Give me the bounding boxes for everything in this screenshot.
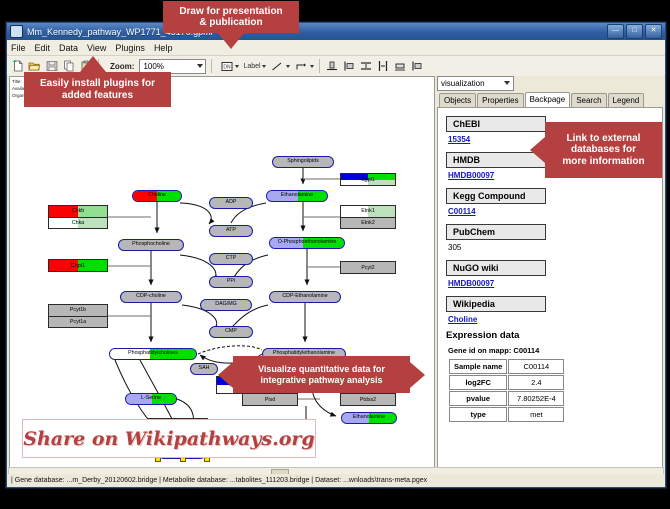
gene-node-row: Sgpl1 [341, 174, 395, 185]
pathway-metabolite-node[interactable]: CDP-Ethanolamine [269, 291, 341, 303]
gene-node-label: Etnk2 [361, 220, 375, 226]
menu-item-help[interactable]: Help [154, 43, 173, 53]
pathway-metabolite-node[interactable]: Ethanolamine [341, 412, 397, 424]
chevron-down-icon [197, 64, 203, 68]
gene-node-row: Ptdss2 [341, 394, 395, 405]
app-icon [10, 25, 23, 38]
pathway-gene-node[interactable]: Pcyt1bPcyt1a [48, 304, 108, 328]
label-tool[interactable]: Label [243, 63, 265, 70]
node-label: ATP [226, 228, 236, 233]
node-label: CMP [225, 329, 237, 334]
visualization-select[interactable]: visualization [437, 76, 514, 91]
node-label: O-Phosphoethanolamine [278, 240, 337, 245]
chevron-down-icon[interactable] [262, 65, 266, 68]
pathway-metabolite-node[interactable]: Sphingolipids [272, 156, 334, 168]
node-label: Phosphatidylcholines [128, 351, 178, 356]
visualization-row: visualization [437, 76, 663, 91]
node-label: L-Serine [141, 396, 161, 401]
line-icon[interactable] [270, 59, 285, 74]
status-bar-text: | Gene database: ...m_Derby_20120602.bri… [11, 477, 427, 484]
gene-node-row: Etnk2 [341, 217, 395, 229]
menu-item-file[interactable]: File [11, 43, 26, 53]
gene-node-row: Pisd [243, 394, 297, 405]
database-name: Wikipedia [446, 296, 546, 312]
gene-node-row: Etnk1 [341, 206, 395, 217]
pathway-gene-node[interactable]: Pcyt2 [340, 261, 396, 274]
node-label: SAH [199, 366, 210, 371]
table-cell-key: pvalue [449, 391, 507, 406]
toolbar-separator [319, 59, 320, 73]
pathway-metabolite-node[interactable]: L-Serine [125, 393, 177, 405]
node-label: ADP [226, 200, 237, 205]
callout-text: Link to external databases for more info… [562, 133, 644, 168]
callout-draw-for-publication: Draw for presentation & publication [163, 1, 299, 33]
database-block-nugo: NuGO wiki HMDB00097 [446, 258, 662, 288]
screenshot-root: Mm_Kennedy_pathway_WP1771_45176.gpml — □… [0, 0, 670, 509]
database-link[interactable]: HMDB00097 [448, 279, 662, 288]
gene-node-row: Chkb [49, 206, 107, 217]
size-equal-icon[interactable] [393, 59, 408, 74]
pathway-metabolite-node[interactable]: ADP [209, 197, 253, 209]
expression-data-table: Sample name C00114 log2FC 2.4 pvalue 7.8… [448, 358, 565, 423]
pathway-metabolite-node[interactable]: DAG/MG [200, 299, 252, 311]
pathway-gene-node[interactable]: Ptdss2 [340, 393, 396, 406]
table-row: log2FC 2.4 [449, 375, 564, 390]
gene-node-label: Chpt1 [71, 263, 85, 269]
database-name: Kegg Compound [446, 188, 546, 204]
close-button[interactable]: ✕ [645, 24, 662, 39]
datanode-icon[interactable]: DN [219, 59, 234, 74]
node-label: Sphingolipids [287, 159, 319, 164]
table-row: Sample name C00114 [449, 359, 564, 374]
table-cell-key: log2FC [449, 375, 507, 390]
table-cell-key: Sample name [449, 359, 507, 374]
line-tool[interactable] [270, 59, 290, 74]
pathway-gene-node[interactable]: Sgpl1 [340, 173, 396, 186]
callout-arrow-left-links [530, 137, 545, 163]
callout-text: Easily install plugins for added feature… [40, 78, 155, 101]
table-row: pvalue 7.80252E-4 [449, 391, 564, 406]
callout-external-links: Link to external databases for more info… [545, 122, 662, 178]
tab-properties[interactable]: Properties [477, 93, 523, 107]
tab-backpage[interactable]: Backpage [525, 92, 571, 107]
status-bar: | Gene database: ...m_Derby_20120602.bri… [8, 474, 664, 486]
connector-icon[interactable] [294, 59, 309, 74]
connector-tool[interactable] [294, 59, 314, 74]
pathway-info-block: Title: Availa Organ [12, 79, 25, 99]
share-banner: Share on Wikipathways.org [22, 419, 316, 458]
pathway-canvas[interactable]: Title: Availa Organ [10, 77, 434, 467]
pathway-gene-node[interactable]: Pisd [242, 393, 298, 406]
node-label: Ethanolamine [353, 415, 385, 420]
gene-node-label: Pcyt2 [361, 265, 374, 271]
menu-item-view[interactable]: View [87, 43, 106, 53]
chevron-down-icon[interactable] [286, 65, 290, 68]
table-cell-value: C00114 [508, 359, 564, 374]
database-name: PubChem [446, 224, 546, 240]
table-cell-value: 2.4 [508, 375, 564, 390]
pathway-metabolite-node[interactable]: PPi [209, 276, 253, 288]
new-file-icon[interactable] [10, 59, 25, 74]
tab-objects[interactable]: Objects [439, 93, 476, 107]
pathway-canvas-panel[interactable]: Title: Availa Organ [9, 76, 435, 468]
pathway-metabolite-node[interactable]: ATP [209, 225, 253, 237]
node-label: CTP [226, 256, 237, 261]
node-label: CDP-Ethanolamine [282, 294, 327, 299]
pathway-metabolite-node[interactable]: CDP-choline [120, 291, 182, 303]
pathway-metabolite-node[interactable]: CMP [209, 326, 253, 338]
pathway-gene-node[interactable]: Chpt1 [48, 259, 108, 272]
callout-visualize-data: Visualize quantitative data for integrat… [233, 356, 410, 393]
expression-data-heading: Expression data [446, 330, 662, 341]
pathway-metabolite-node[interactable]: Choline [132, 190, 182, 202]
menu-item-data[interactable]: Data [59, 43, 78, 53]
node-label: CDP-choline [136, 294, 166, 299]
gene-node-label: Sgpl1 [361, 177, 375, 183]
visualization-value: visualization [441, 79, 485, 88]
gene-id-line: Gene id on mapp: C00114 [448, 346, 662, 355]
database-name: ChEBI [446, 116, 546, 132]
table-cell-key: type [449, 407, 507, 422]
node-label: Ethanolamine [281, 193, 313, 198]
label-tool-text: Label [243, 63, 260, 70]
node-label: DAG/MG [215, 302, 236, 307]
bring-front-icon[interactable] [410, 59, 425, 74]
zoom-label: Zoom: [110, 62, 134, 71]
gene-node-row: Pcyt2 [341, 262, 395, 273]
database-block-wikipedia: Wikipedia Choline [446, 294, 662, 324]
database-block-pubchem: PubChem 305 [446, 222, 662, 252]
menu-item-edit[interactable]: Edit [35, 43, 51, 53]
menu-bar: File Edit Data View Plugins Help [7, 40, 665, 56]
table-cell-value: 7.80252E-4 [508, 391, 564, 406]
chevron-down-icon[interactable] [235, 65, 239, 68]
gene-node-row: Chpt1 [49, 260, 107, 271]
backpage-tabs: Objects Properties Backpage Search Legen… [437, 93, 663, 107]
pathway-info-title: Title: [12, 79, 25, 86]
gene-node-row: Pcyt1a [49, 316, 107, 328]
toolbar-separator [211, 59, 212, 73]
pathway-metabolite-node[interactable]: Phosphatidylcholines [109, 348, 197, 360]
gene-node-label: Etnk1 [361, 208, 375, 214]
database-link[interactable]: C00114 [448, 207, 662, 216]
gene-node-label: Chka [72, 220, 84, 226]
database-value: 305 [448, 243, 662, 252]
zoom-value: 100% [143, 62, 163, 71]
database-name: NuGO wiki [446, 260, 546, 276]
gene-node-label: Pcyt1b [70, 307, 86, 313]
datanode-tool[interactable]: DN [219, 59, 239, 74]
callout-arrow-left-visualize [218, 362, 233, 388]
node-label: Choline [148, 193, 166, 198]
maximize-button[interactable]: □ [626, 24, 643, 39]
gene-node-row: Chka [49, 217, 107, 229]
callout-arrow-down-draw [218, 33, 244, 49]
chevron-down-icon [504, 81, 510, 85]
database-link[interactable]: Choline [448, 315, 662, 324]
pathway-gene-node[interactable]: ChkbChka [48, 205, 108, 229]
table-row: type met [449, 407, 564, 422]
node-label: PPi [227, 279, 235, 284]
svg-text:DN: DN [223, 64, 231, 70]
callout-install-plugins: Easily install plugins for added feature… [24, 72, 171, 107]
database-block-kegg: Kegg Compound C00114 [446, 186, 662, 216]
title-bar: Mm_Kennedy_pathway_WP1771_45176.gpml — □… [7, 23, 665, 40]
chevron-down-icon[interactable] [310, 65, 314, 68]
gene-node-label: Pisd [265, 397, 275, 403]
tab-search[interactable]: Search [571, 93, 606, 107]
pathway-gene-node[interactable]: Etnk1Etnk2 [340, 205, 396, 229]
callout-text: Draw for presentation & publication [179, 6, 282, 29]
pathway-metabolite-node[interactable]: CTP [209, 253, 253, 265]
distribute-horizontal-icon[interactable] [376, 59, 391, 74]
pathway-info-organism: Organ [12, 93, 25, 100]
gene-node-row: Pcyt1b [49, 305, 107, 316]
tab-legend[interactable]: Legend [608, 93, 645, 107]
callout-arrow-up-plugins [80, 56, 106, 72]
table-cell-value: met [508, 407, 564, 422]
window-controls[interactable]: — □ ✕ [607, 24, 662, 39]
callout-text: Visualize quantitative data for integrat… [258, 364, 385, 385]
pathway-metabolite-node[interactable]: SAH [190, 363, 218, 375]
gene-node-label: Ptdss2 [360, 397, 376, 403]
minimize-button[interactable]: — [607, 24, 624, 39]
share-banner-text: Share on Wikipathways.org [23, 428, 314, 450]
gene-node-label: Pcyt1a [70, 319, 86, 325]
align-left-icon[interactable] [342, 59, 357, 74]
pathway-metabolite-node[interactable]: Phosphocholine [118, 239, 184, 251]
node-label: Phosphocholine [132, 242, 170, 247]
pathway-metabolite-node[interactable]: O-Phosphoethanolamine [269, 237, 345, 249]
menu-item-plugins[interactable]: Plugins [115, 43, 145, 53]
callout-arrow-right-visualize [410, 362, 425, 388]
align-top-icon[interactable] [325, 59, 340, 74]
gene-node-label: Chkb [72, 208, 84, 214]
distribute-vertical-icon[interactable] [359, 59, 374, 74]
pathway-metabolite-node[interactable]: Ethanolamine [266, 190, 328, 202]
pathway-info-available: Availa [12, 86, 25, 93]
